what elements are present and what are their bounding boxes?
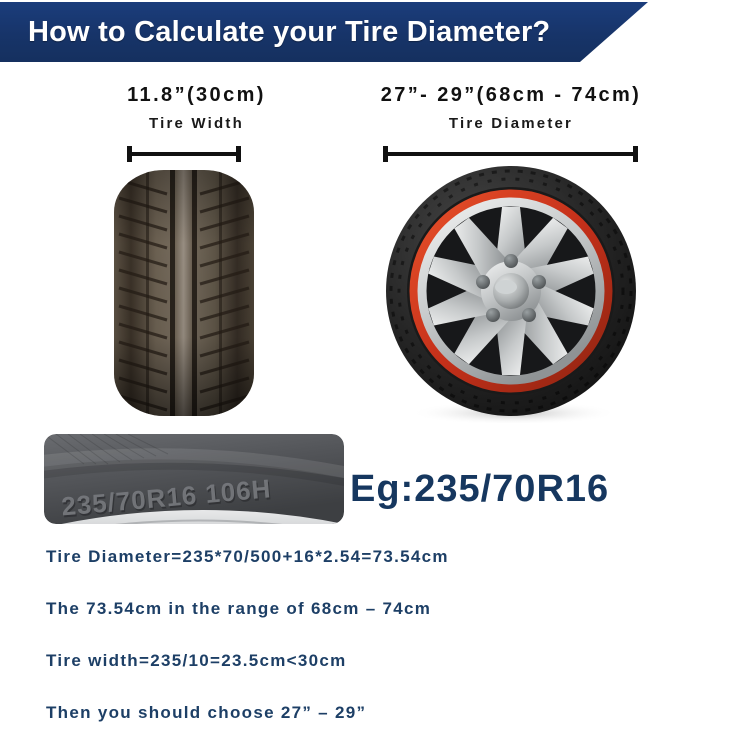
diameter-dimension-bar-icon	[383, 146, 638, 162]
formula-line: Then you should choose 27” – 29”	[46, 702, 736, 750]
tire-diameter-name: Tire Diameter	[344, 115, 678, 132]
page-title: How to Calculate your Tire Diameter?	[28, 16, 550, 49]
tire-diameter-label-group: 27”- 29”(68cm - 74cm) Tire Diameter	[344, 84, 678, 132]
dimension-line	[383, 152, 638, 156]
formula-list: Tire Diameter=235*70/500+16*2.54=73.54cm…	[46, 546, 736, 750]
infographic-page: How to Calculate your Tire Diameter? 11.…	[0, 0, 750, 750]
formula-line: The 73.54cm in the range of 68cm – 74cm	[46, 598, 736, 650]
formula-line: Tire width=235/10=23.5cm<30cm	[46, 650, 736, 702]
tire-sidewall-image: 235/70R16 106H 235/70R16 106H	[44, 434, 344, 524]
dimension-cap-right	[633, 146, 638, 162]
tire-width-label-group: 11.8”(30cm) Tire Width	[64, 84, 329, 132]
tire-diameter-value: 27”- 29”(68cm - 74cm)	[344, 84, 678, 107]
tire-tread-image	[111, 168, 257, 418]
width-dimension-bar-icon	[127, 146, 241, 162]
tire-width-value: 11.8”(30cm)	[64, 84, 329, 107]
example-size-label: Eg:235/70R16	[350, 468, 609, 511]
header-banner: How to Calculate your Tire Diameter?	[0, 2, 648, 62]
dimension-cap-right	[236, 146, 241, 162]
dimension-line	[127, 152, 241, 156]
alloy-wheel-image	[382, 165, 640, 423]
tire-width-name: Tire Width	[64, 115, 329, 132]
formula-line: Tire Diameter=235*70/500+16*2.54=73.54cm	[46, 546, 736, 598]
